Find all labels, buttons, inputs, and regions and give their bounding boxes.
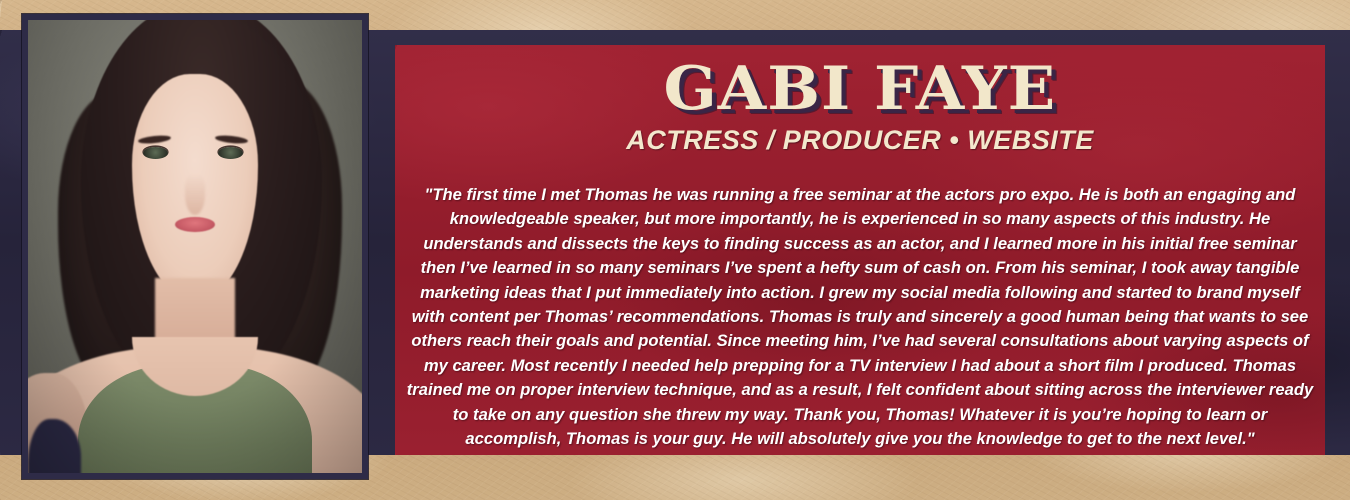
testimonial-panel: GABI FAYE ACTRESS / PRODUCER • WEBSITE "… xyxy=(395,45,1325,455)
role-subtitle: ACTRESS / PRODUCER • WEBSITE xyxy=(626,125,1094,156)
page-title: GABI FAYE xyxy=(664,59,1057,119)
testimonial-card: GABI FAYE ACTRESS / PRODUCER • WEBSITE "… xyxy=(0,0,1350,500)
headshot-frame xyxy=(22,14,368,479)
photo-vignette xyxy=(28,20,362,473)
testimonial-quote: "The first time I met Thomas he was runn… xyxy=(404,183,1316,451)
headshot-photo xyxy=(28,20,362,473)
